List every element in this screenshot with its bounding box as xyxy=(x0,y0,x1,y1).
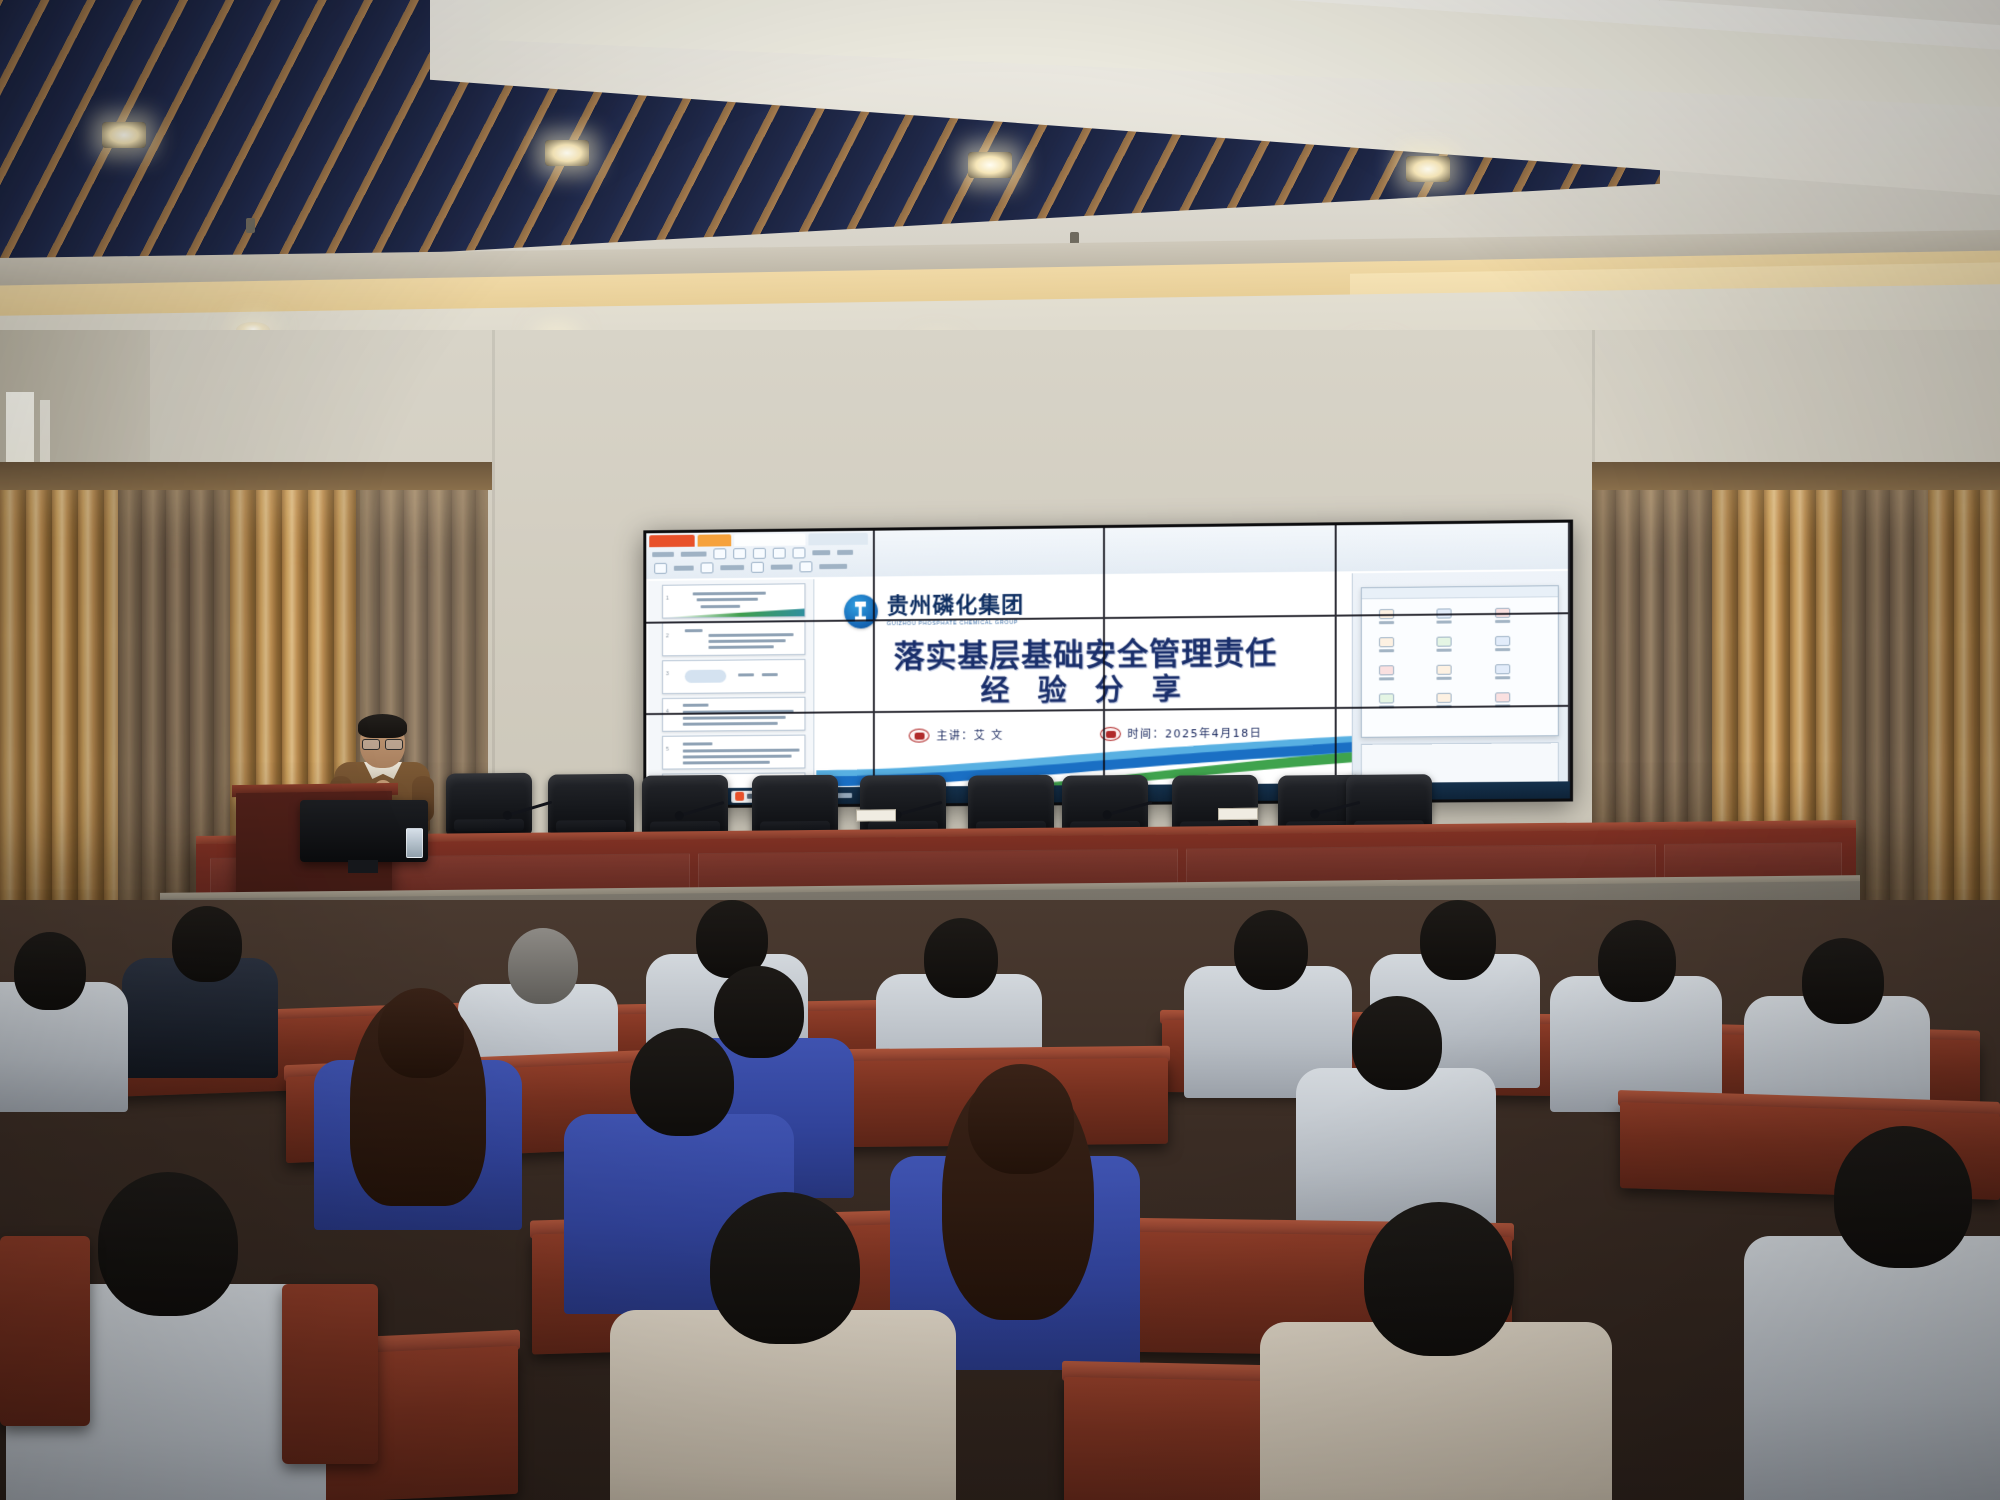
ceiling-spotlight-3 xyxy=(968,152,1012,178)
dialog-icon[interactable] xyxy=(1492,664,1512,685)
ribbon-label xyxy=(720,565,744,570)
head-chair[interactable] xyxy=(548,774,634,837)
person-head xyxy=(1834,1126,1972,1268)
ribbon-icon-paste[interactable] xyxy=(654,563,667,574)
wps-presentation-icon xyxy=(735,792,744,801)
company-name-en: GUIZHOU PHOSPHATE CHEMICAL GROUP xyxy=(887,619,1024,626)
dialog-icon-grid[interactable] xyxy=(1362,597,1558,725)
ribbon-icon[interactable] xyxy=(733,548,746,559)
thumb-line xyxy=(683,710,794,714)
slide-thumbnail[interactable]: 4 xyxy=(662,697,805,732)
dialog-icon[interactable] xyxy=(1376,693,1396,714)
dialog-icon[interactable] xyxy=(1492,608,1512,629)
person-head xyxy=(714,966,804,1058)
ceiling-spotlight-4 xyxy=(1406,156,1450,182)
thumb-line xyxy=(683,761,770,765)
person-head xyxy=(710,1192,860,1344)
person-head xyxy=(630,1028,734,1136)
thumb-wave xyxy=(663,607,804,617)
ceiling-sensor-1 xyxy=(246,218,255,233)
ribbon-label xyxy=(674,566,694,571)
thumb-line xyxy=(708,639,785,643)
thumb-line xyxy=(708,645,773,649)
thumb-line xyxy=(701,605,741,608)
ribbon-label xyxy=(812,550,830,555)
ribbon-tab-wps[interactable] xyxy=(649,535,694,547)
thumb-line xyxy=(697,598,758,602)
dialog-icon[interactable] xyxy=(1376,665,1396,686)
slide-title-line1: 落实基层基础安全管理责任 xyxy=(816,635,1355,676)
thumb-line xyxy=(683,749,800,753)
person-head xyxy=(14,932,86,1010)
phosphate-group-logo-icon xyxy=(844,594,878,628)
ribbon-tab-doc[interactable] xyxy=(734,533,805,546)
slide-number: 5 xyxy=(666,747,669,753)
ribbon-icon[interactable] xyxy=(753,548,766,559)
glasses-icon xyxy=(362,739,403,748)
presenter-hair xyxy=(358,714,407,738)
thumb-line xyxy=(685,670,726,683)
head-chair[interactable] xyxy=(446,773,532,836)
person-head xyxy=(508,928,578,1004)
slide-number: 3 xyxy=(666,671,669,677)
company-name-cn: 贵州磷化集团 xyxy=(887,592,1024,618)
monitor-stand xyxy=(348,860,378,873)
thumb-line xyxy=(683,716,786,720)
ribbon-icon[interactable] xyxy=(793,547,806,558)
app-ribbon-strip xyxy=(646,523,1570,579)
ribbon-tab-file[interactable] xyxy=(698,534,732,546)
ribbon-icon-cut[interactable] xyxy=(701,562,714,573)
dialog-icon[interactable] xyxy=(1434,693,1454,714)
person-head xyxy=(1364,1202,1514,1356)
ceiling-spotlight-1 xyxy=(102,122,146,148)
ribbon-icon[interactable] xyxy=(713,548,726,559)
thumb-line xyxy=(683,742,713,745)
slide-number: 1 xyxy=(666,596,669,602)
person-head xyxy=(98,1172,238,1316)
thumb-line xyxy=(683,722,778,726)
table-nameplate xyxy=(1218,808,1258,820)
thumb-line xyxy=(738,673,754,676)
presentation-slide[interactable]: 贵州磷化集团 GUIZHOU PHOSPHATE CHEMICAL GROUP … xyxy=(816,573,1355,808)
dialog-icon[interactable] xyxy=(1376,637,1396,658)
head-chair[interactable] xyxy=(752,775,838,838)
right-tool-panel[interactable] xyxy=(1352,571,1568,806)
video-wall-display[interactable]: 1 2 3 4 xyxy=(643,520,1573,809)
slide-number: 4 xyxy=(666,709,669,715)
slide-thumbnail[interactable]: 5 xyxy=(662,735,805,770)
ceiling-spotlight-2 xyxy=(545,140,589,166)
ribbon-icon-play[interactable] xyxy=(799,561,812,572)
person-head xyxy=(1420,900,1496,980)
person-head xyxy=(172,906,242,982)
company-name-block: 贵州磷化集团 GUIZHOU PHOSPHATE CHEMICAL GROUP xyxy=(887,594,1024,626)
person-head xyxy=(378,988,464,1078)
ribbon-tab-blank[interactable] xyxy=(808,533,868,546)
dialog-icon[interactable] xyxy=(1434,637,1454,658)
slide-thumbnail[interactable]: 2 xyxy=(662,621,805,656)
person-head xyxy=(924,918,998,998)
dialog-icon[interactable] xyxy=(1492,636,1512,657)
ribbon-label xyxy=(681,552,707,557)
ribbon-label xyxy=(771,564,793,569)
curtain-right-edge xyxy=(1928,470,2000,930)
thumb-line xyxy=(683,755,792,759)
curtain-rail-left xyxy=(0,462,492,490)
slide-title: 落实基层基础安全管理责任 经 验 分 享 xyxy=(816,635,1355,710)
person-head xyxy=(1802,938,1884,1024)
thumb-line xyxy=(762,673,778,676)
dialog-icon[interactable] xyxy=(1434,665,1454,686)
water-glass xyxy=(406,828,423,858)
thumb-line xyxy=(693,592,766,596)
side-chair[interactable] xyxy=(282,1284,378,1464)
person-head xyxy=(1598,920,1676,1002)
dialog-icon[interactable] xyxy=(1434,608,1454,629)
table-nameplate xyxy=(856,809,896,821)
thumb-line xyxy=(683,704,709,707)
slide-number: 2 xyxy=(666,633,669,639)
curtain-left-warm xyxy=(0,470,120,930)
slide-thumbnail[interactable]: 3 xyxy=(662,659,805,694)
dialog-icon[interactable] xyxy=(1492,692,1512,713)
ribbon-icon-layout[interactable] xyxy=(751,562,764,573)
slide-title-line2: 经 验 分 享 xyxy=(816,672,1355,711)
conference-room-photo: 1 2 3 4 xyxy=(0,0,2000,1500)
curtain-rail-right xyxy=(1592,462,2000,490)
thumb-line xyxy=(708,633,793,637)
thumb-line xyxy=(685,629,703,632)
person-torso xyxy=(1744,1236,2000,1500)
person-head xyxy=(1352,996,1442,1090)
ribbon-label xyxy=(819,564,847,569)
ribbon-label xyxy=(837,550,853,555)
person-head xyxy=(968,1064,1074,1174)
symbol-dialog[interactable] xyxy=(1361,585,1559,738)
slide-thumbnail-rail[interactable]: 1 2 3 4 xyxy=(648,579,814,797)
ribbon-label xyxy=(652,552,674,557)
slide-thumbnail[interactable]: 1 xyxy=(662,583,805,618)
company-logo: 贵州磷化集团 GUIZHOU PHOSPHATE CHEMICAL GROUP xyxy=(844,593,1024,629)
side-chair[interactable] xyxy=(0,1236,90,1426)
person-head xyxy=(1234,910,1308,990)
dialog-icon[interactable] xyxy=(1376,609,1396,630)
ribbon-icon[interactable] xyxy=(773,548,786,559)
